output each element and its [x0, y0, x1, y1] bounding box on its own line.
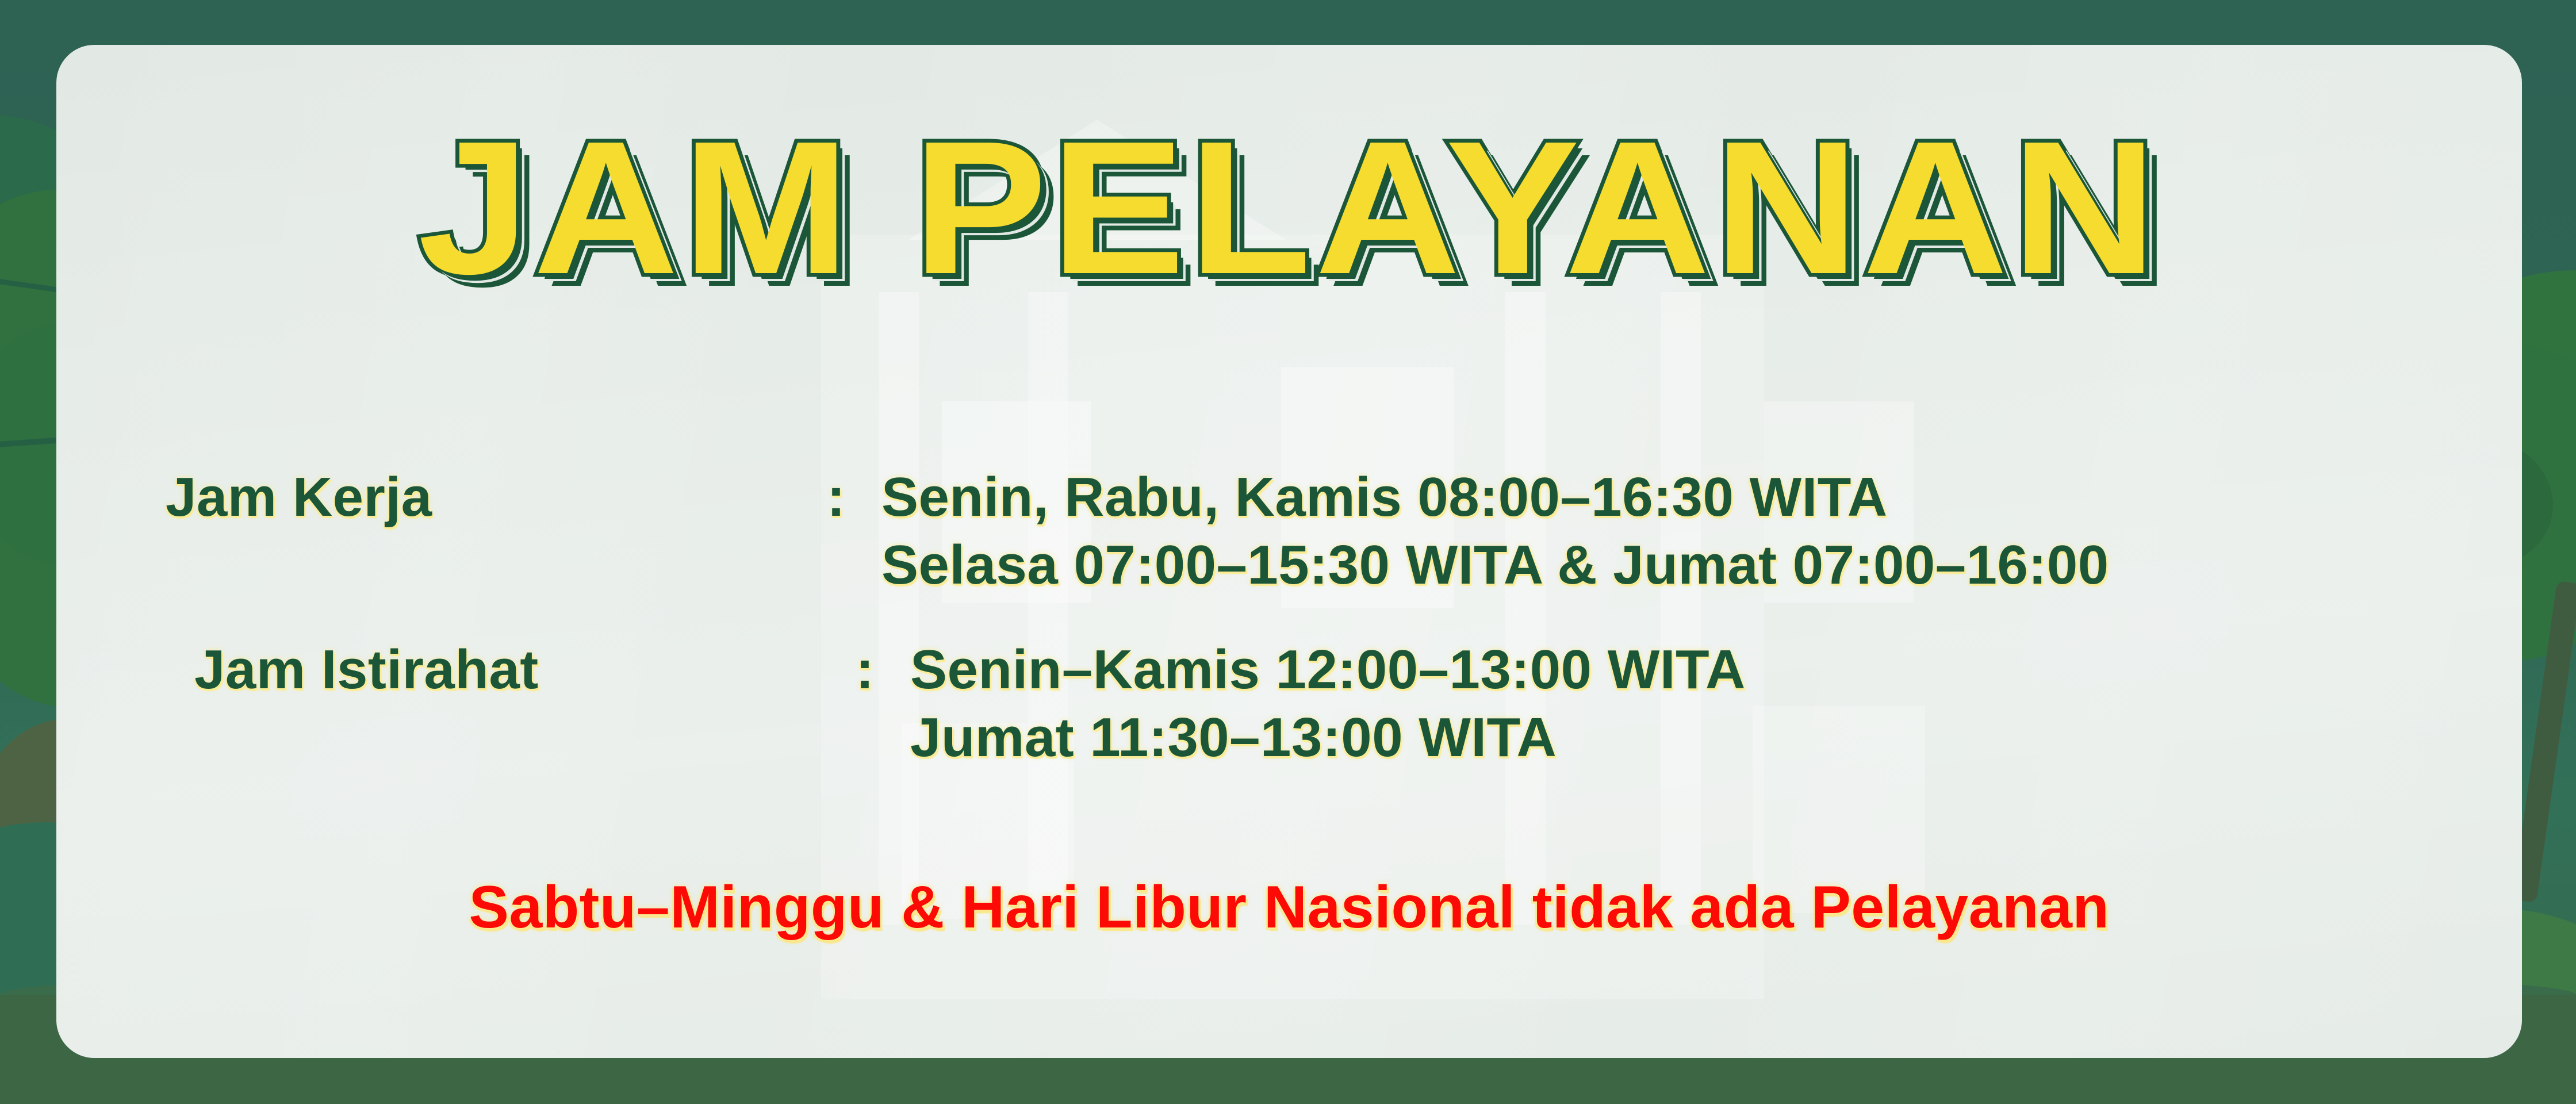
schedule-separator-jam-kerja: :: [827, 463, 881, 531]
holiday-notice: Sabtu–Minggu & Hari Libur Nasional tidak…: [56, 877, 2522, 937]
card-content: JAM PELAYANAN Jam Kerja : Senin, Rabu, K…: [56, 45, 2522, 1058]
schedule-value-line: Senin, Rabu, Kamis 08:00–16:30 WITA: [881, 463, 2109, 531]
schedule-value-line: Senin–Kamis 12:00–13:00 WITA: [910, 636, 1746, 704]
schedule-label-jam-istirahat: Jam Istirahat: [166, 636, 856, 704]
schedule-label-jam-kerja: Jam Kerja: [166, 463, 827, 531]
schedule-values-jam-kerja: Senin, Rabu, Kamis 08:00–16:30 WITA Sela…: [881, 463, 2109, 599]
schedule-values-jam-istirahat: Senin–Kamis 12:00–13:00 WITA Jumat 11:30…: [910, 636, 1746, 772]
info-card: JAM PELAYANAN Jam Kerja : Senin, Rabu, K…: [56, 45, 2522, 1058]
poster-title: JAM PELAYANAN: [56, 113, 2522, 302]
schedule-value-line: Jumat 11:30–13:00 WITA: [910, 704, 1746, 772]
poster-stage: JAM PELAYANAN Jam Kerja : Senin, Rabu, K…: [0, 0, 2576, 1104]
schedule-value-line: Selasa 07:00–15:30 WITA & Jumat 07:00–16…: [881, 531, 2109, 599]
schedule-row-jam-istirahat: Jam Istirahat : Senin–Kamis 12:00–13:00 …: [166, 636, 1746, 772]
schedule-separator-jam-istirahat: :: [856, 636, 910, 704]
schedule-row-jam-kerja: Jam Kerja : Senin, Rabu, Kamis 08:00–16:…: [166, 463, 2109, 599]
